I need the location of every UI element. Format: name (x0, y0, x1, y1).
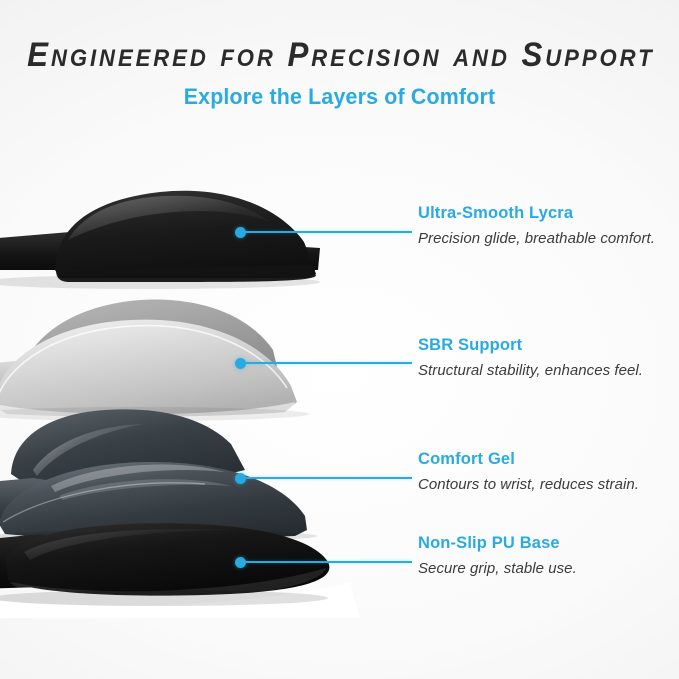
leader-stroke (245, 362, 412, 364)
callout-text-pu-base: Non-Slip PU Base Secure grip, stable use… (418, 534, 668, 579)
header: Engineered for Precision and Support Exp… (0, 0, 679, 109)
page-subtitle: Explore the Layers of Comfort (10, 74, 669, 109)
callout-description: Secure grip, stable use. (418, 559, 668, 579)
callout-title: Ultra-Smooth Lycra (418, 204, 668, 223)
leader-stroke (245, 477, 412, 479)
leader-stroke (245, 231, 412, 233)
callout-text-lycra: Ultra-Smooth Lycra Precision glide, brea… (418, 204, 668, 249)
callout-text-sbr: SBR Support Structural stability, enhanc… (418, 336, 668, 381)
leader-line-sbr (235, 356, 412, 370)
callout-description: Structural stability, enhances feel. (418, 361, 668, 381)
leader-stroke (245, 561, 412, 563)
leader-line-gel (235, 471, 412, 485)
callout-title: Non-Slip PU Base (418, 534, 668, 553)
callout-title: SBR Support (418, 336, 668, 355)
callout-text-gel: Comfort Gel Contours to wrist, reduces s… (418, 450, 668, 495)
callout-description: Contours to wrist, reduces strain. (418, 475, 668, 495)
callout-description: Precision glide, breathable comfort. (418, 229, 668, 249)
infographic-canvas: Engineered for Precision and Support Exp… (0, 0, 679, 679)
leader-line-lycra (235, 225, 412, 239)
callout-title: Comfort Gel (418, 450, 668, 469)
page-title: Engineered for Precision and Support (27, 0, 652, 74)
leader-line-pu-base (235, 555, 412, 569)
